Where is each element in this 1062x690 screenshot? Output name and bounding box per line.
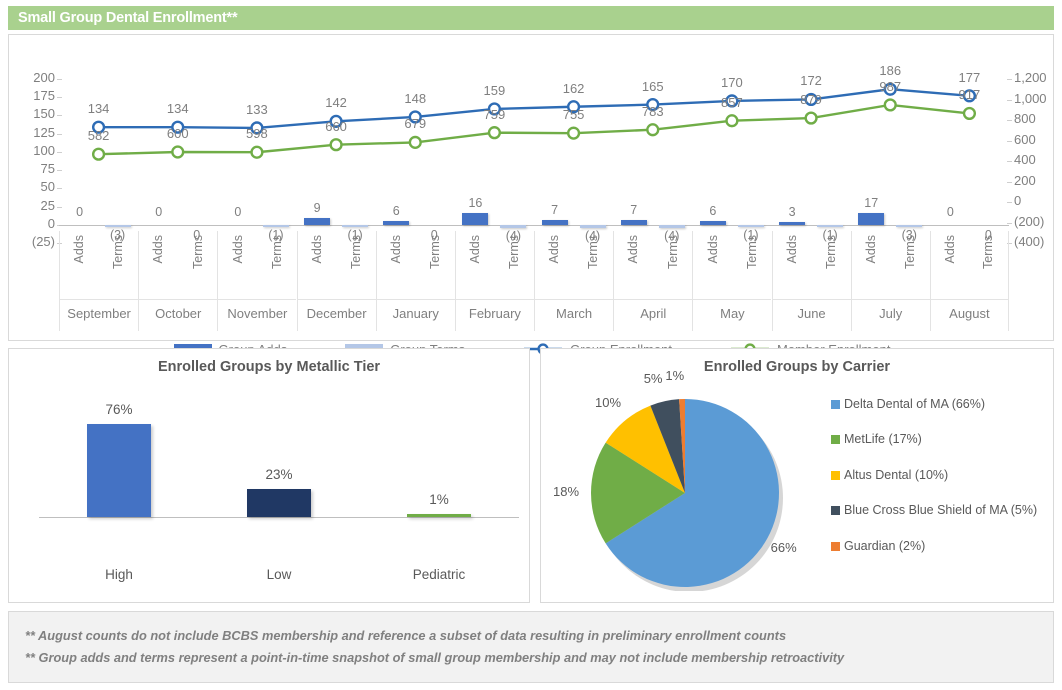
group-adds-value-label: 9 xyxy=(297,201,337,215)
month-label: May xyxy=(693,299,771,321)
sub-category-label-adds: Adds xyxy=(390,235,403,264)
carrier-chart-title: Enrolled Groups by Carrier xyxy=(541,359,1053,375)
combo-left-axis-tick: 75 xyxy=(15,161,55,176)
group-adds-value-label: 3 xyxy=(772,205,812,219)
sub-category-label-adds: Adds xyxy=(232,235,245,264)
tier-bar xyxy=(247,489,311,517)
month-label: March xyxy=(535,299,613,321)
tier-category-label: High xyxy=(64,567,174,582)
tier-category-label: Pediatric xyxy=(384,567,494,582)
group-adds-value-label: 17 xyxy=(851,196,891,210)
member-enrollment-value-label: 879 xyxy=(788,92,834,107)
group-adds-bar xyxy=(779,222,805,225)
member-enrollment-value-label: 783 xyxy=(630,104,676,119)
group-terms-value-label: (3) xyxy=(98,228,138,242)
group-terms-value-label: 0 xyxy=(414,228,454,242)
carrier-legend-label: Delta Dental of MA (66%) xyxy=(844,397,985,411)
member-enrollment-value-label: 660 xyxy=(313,119,359,134)
group-adds-bar xyxy=(858,213,884,225)
combo-left-axis-tick: 50 xyxy=(15,179,55,194)
group-adds-bar xyxy=(383,221,409,225)
month-column: AddsTermsMarch xyxy=(534,231,613,331)
tier-bar xyxy=(87,424,151,517)
month-column: AddsTermsNovember xyxy=(217,231,296,331)
member-enrollment-value-label: 759 xyxy=(471,107,517,122)
footnote-line-1: ** August counts do not include BCBS mem… xyxy=(25,628,786,643)
month-column: AddsTermsJune xyxy=(772,231,851,331)
group-adds-value-label: 0 xyxy=(60,205,100,219)
carrier-legend-item[interactable]: Guardian (2%) xyxy=(831,539,1047,553)
group-enrollment-value-label: 159 xyxy=(471,83,517,98)
carrier-legend-swatch-icon xyxy=(831,542,840,551)
group-adds-bar xyxy=(304,218,330,225)
dashboard-root: Small Group Dental Enrollment** 20017515… xyxy=(0,0,1062,690)
member-enrollment-value-label: 987 xyxy=(867,79,913,94)
group-enrollment-value-label: 134 xyxy=(155,101,201,116)
month-label: July xyxy=(852,299,930,321)
carrier-legend-label: MetLife (17%) xyxy=(844,432,922,446)
month-label: April xyxy=(614,299,692,321)
carrier-legend-item[interactable]: MetLife (17%) xyxy=(831,432,1047,446)
group-adds-bar xyxy=(462,213,488,225)
group-terms-bar xyxy=(263,225,289,227)
month-column: AddsTermsDecember xyxy=(297,231,376,331)
carrier-chart-panel: Enrolled Groups by Carrier 66%18%10%5%1%… xyxy=(540,348,1054,603)
group-terms-bar xyxy=(817,225,843,227)
member-enrollment-value-label: 600 xyxy=(155,126,201,141)
group-terms-value-label: (4) xyxy=(652,229,692,243)
group-enrollment-value-label: 148 xyxy=(392,91,438,106)
pie-slice-label: 5% xyxy=(644,371,663,386)
group-enrollment-value-label: 133 xyxy=(234,102,280,117)
month-column: AddsTermsApril xyxy=(613,231,692,331)
group-terms-bar xyxy=(500,225,526,228)
combo-right-axis-tick: 1,000 xyxy=(1014,91,1062,106)
sub-category-label-adds: Adds xyxy=(707,235,720,264)
member-enrollment-value-label: 917 xyxy=(946,87,992,102)
carrier-legend-item[interactable]: Blue Cross Blue Shield of MA (5%) xyxy=(831,503,1047,517)
combo-right-axis-tick: 600 xyxy=(1014,132,1062,147)
metallic-tier-chart-title: Enrolled Groups by Metallic Tier xyxy=(9,359,529,375)
sub-category-label-adds: Adds xyxy=(548,235,561,264)
month-label: February xyxy=(456,299,534,321)
tier-bar xyxy=(407,514,471,517)
group-terms-bar xyxy=(105,225,131,227)
carrier-pie-svg xyxy=(567,395,817,591)
page-title: Small Group Dental Enrollment** xyxy=(18,10,237,26)
group-terms-bar xyxy=(580,225,606,228)
sub-category-label-adds: Adds xyxy=(469,235,482,264)
month-label: December xyxy=(298,299,376,321)
metallic-tier-plot-area: 76%High23%Low1%Pediatric xyxy=(39,395,519,517)
group-adds-bar xyxy=(621,220,647,225)
combo-left-axis-tick: 175 xyxy=(15,88,55,103)
combo-right-axis-tick: 0 xyxy=(1014,193,1062,208)
combo-right-axis-tick: (200) xyxy=(1014,214,1062,229)
carrier-legend-label: Blue Cross Blue Shield of MA (5%) xyxy=(844,503,1037,517)
group-enrollment-value-label: 165 xyxy=(630,79,676,94)
sub-category-label-adds: Adds xyxy=(152,235,165,264)
carrier-legend: Delta Dental of MA (66%)MetLife (17%)Alt… xyxy=(831,393,1047,589)
metallic-tier-baseline xyxy=(39,517,519,518)
month-label: June xyxy=(773,299,851,321)
group-adds-value-label: 0 xyxy=(139,205,179,219)
group-enrollment-value-label: 186 xyxy=(867,63,913,78)
group-enrollment-value-label: 134 xyxy=(76,101,122,116)
group-adds-bar xyxy=(542,220,568,225)
footnotes-panel: ** August counts do not include BCBS mem… xyxy=(8,611,1054,683)
carrier-legend-swatch-icon xyxy=(831,506,840,515)
month-label: August xyxy=(931,299,1008,321)
combo-right-axis-tick: 200 xyxy=(1014,173,1062,188)
combo-right-axis-tick: 400 xyxy=(1014,152,1062,167)
group-terms-bar xyxy=(896,225,922,227)
combo-left-axis-tick: 150 xyxy=(15,106,55,121)
group-adds-value-label: 6 xyxy=(376,204,416,218)
group-terms-bar xyxy=(738,225,764,227)
group-terms-value-label: (4) xyxy=(573,229,613,243)
carrier-legend-swatch-icon xyxy=(831,471,840,480)
month-label: November xyxy=(218,299,296,321)
pie-slice-label: 10% xyxy=(595,395,621,410)
group-enrollment-value-label: 172 xyxy=(788,73,834,88)
group-adds-value-label: 7 xyxy=(614,203,654,217)
sub-category-label-adds: Adds xyxy=(786,235,799,264)
month-column: AddsTermsOctober xyxy=(138,231,217,331)
member-enrollment-value-label: 857 xyxy=(709,95,755,110)
sub-category-label-adds: Adds xyxy=(865,235,878,264)
member-enrollment-value-label: 582 xyxy=(76,128,122,143)
metallic-tier-chart-panel: Enrolled Groups by Metallic Tier 76%High… xyxy=(8,348,530,603)
group-terms-value-label: (3) xyxy=(889,228,929,242)
carrier-legend-label: Guardian (2%) xyxy=(844,539,925,553)
combo-zero-line xyxy=(59,225,1009,226)
combo-right-axis-tick: 1,200 xyxy=(1014,70,1062,85)
carrier-legend-swatch-icon xyxy=(831,400,840,409)
group-adds-value-label: 6 xyxy=(693,204,733,218)
combo-left-axis-tick: 25 xyxy=(15,198,55,213)
combo-left-axis-tick: (25) xyxy=(15,234,55,249)
carrier-legend-label: Altus Dental (10%) xyxy=(844,468,948,482)
month-label: September xyxy=(60,299,138,321)
combo-left-axis-tick: 100 xyxy=(15,143,55,158)
month-label: January xyxy=(377,299,455,321)
pie-slice-label: 18% xyxy=(553,484,579,499)
member-enrollment-value-label: 679 xyxy=(392,116,438,131)
sub-category-label-adds: Adds xyxy=(627,235,640,264)
group-terms-value-label: 0 xyxy=(968,228,1008,242)
tier-value-label: 76% xyxy=(79,402,159,417)
group-terms-value-label: (1) xyxy=(731,228,771,242)
combo-right-axis-tick: 800 xyxy=(1014,111,1062,126)
group-enrollment-value-label: 142 xyxy=(313,95,359,110)
carrier-legend-swatch-icon xyxy=(831,435,840,444)
month-column: AddsTermsSeptember xyxy=(59,231,138,331)
carrier-legend-item[interactable]: Delta Dental of MA (66%) xyxy=(831,397,1047,411)
group-terms-value-label: (4) xyxy=(493,229,533,243)
month-column: AddsTermsAugust xyxy=(930,231,1009,331)
tier-value-label: 1% xyxy=(399,492,479,507)
combo-left-axis-tick: 200 xyxy=(15,70,55,85)
month-column: AddsTermsJanuary xyxy=(376,231,455,331)
dashboard-title-bar: Small Group Dental Enrollment** xyxy=(8,6,1054,30)
member-enrollment-value-label: 755 xyxy=(551,107,597,122)
member-enrollment-value-label: 598 xyxy=(234,126,280,141)
group-terms-value-label: (1) xyxy=(810,228,850,242)
month-column: AddsTermsMay xyxy=(692,231,771,331)
group-terms-value-label: (1) xyxy=(256,228,296,242)
sub-category-label-adds: Adds xyxy=(311,235,324,264)
group-adds-value-label: 0 xyxy=(218,205,258,219)
pie-slice-label: 66% xyxy=(771,540,797,555)
combo-left-axis-tick: 0 xyxy=(15,216,55,231)
tier-category-label: Low xyxy=(224,567,334,582)
carrier-pie-area: 66%18%10%5%1% xyxy=(567,395,817,591)
footnote-line-2: ** Group adds and terms represent a poin… xyxy=(25,650,844,665)
group-terms-value-label: (1) xyxy=(335,228,375,242)
group-adds-value-label: 0 xyxy=(930,205,970,219)
month-column: AddsTermsJuly xyxy=(851,231,930,331)
tier-value-label: 23% xyxy=(239,467,319,482)
carrier-legend-item[interactable]: Altus Dental (10%) xyxy=(831,468,1047,482)
group-enrollment-value-label: 170 xyxy=(709,75,755,90)
combo-chart-area: 2001751501251007550250(25) 1,2001,000800… xyxy=(9,35,1053,340)
sub-category-label-adds: Adds xyxy=(944,235,957,264)
group-terms-bar xyxy=(342,225,368,227)
group-adds-value-label: 16 xyxy=(455,196,495,210)
month-label: October xyxy=(139,299,217,321)
group-terms-value-label: 0 xyxy=(177,228,217,242)
combo-left-axis-tick: 125 xyxy=(15,125,55,140)
group-adds-value-label: 7 xyxy=(535,203,575,217)
pie-slice-label: 1% xyxy=(665,368,684,383)
group-terms-bar xyxy=(659,225,685,228)
combo-chart-panel: 2001751501251007550250(25) 1,2001,000800… xyxy=(8,34,1054,341)
group-enrollment-value-label: 162 xyxy=(551,81,597,96)
combo-month-axis: AddsTermsSeptemberAddsTermsOctoberAddsTe… xyxy=(59,231,1009,331)
month-column: AddsTermsFebruary xyxy=(455,231,534,331)
group-adds-bar xyxy=(700,221,726,225)
sub-category-label-adds: Adds xyxy=(73,235,86,264)
group-enrollment-value-label: 177 xyxy=(946,70,992,85)
combo-right-axis-tick: (400) xyxy=(1014,234,1062,249)
